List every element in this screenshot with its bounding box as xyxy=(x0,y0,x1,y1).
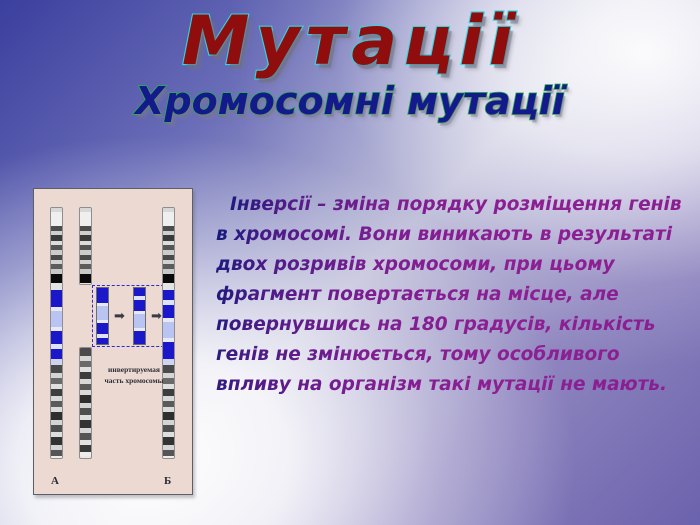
band-lightblue xyxy=(163,322,174,338)
excised-fragment xyxy=(96,287,109,345)
band xyxy=(163,425,174,432)
centromere xyxy=(51,274,62,283)
band xyxy=(80,420,91,428)
band xyxy=(163,389,174,396)
band xyxy=(80,433,91,440)
band xyxy=(51,389,62,396)
band-lightblue xyxy=(134,314,145,328)
band-blue xyxy=(51,349,62,359)
band-blue xyxy=(134,331,145,345)
band xyxy=(80,395,91,403)
band-blue xyxy=(51,331,62,344)
band-blue xyxy=(134,288,145,296)
band-blue xyxy=(97,288,108,303)
result-chromosome-b xyxy=(162,207,175,459)
band xyxy=(51,456,62,459)
figure-label-a: А xyxy=(51,475,59,487)
band xyxy=(163,456,174,459)
figure-label-b: Б xyxy=(164,475,171,487)
band xyxy=(80,348,91,356)
page-title: Мутації xyxy=(0,6,700,77)
band-blue xyxy=(97,338,108,345)
band xyxy=(163,412,174,420)
fragment-caption-line2: часть хромосомы xyxy=(89,375,179,386)
band-blue xyxy=(51,290,62,307)
centromere xyxy=(80,274,91,283)
arrow-right-icon: ➡ xyxy=(114,309,125,322)
slide-canvas: Мутації Хромосомні мутації Інверсії – зм… xyxy=(0,0,700,525)
band-blue xyxy=(97,323,108,334)
chromosome-inversion-diagram: ➡ ➡ xyxy=(33,188,193,495)
band xyxy=(51,212,62,226)
band xyxy=(163,437,174,445)
band-lightblue xyxy=(97,306,108,320)
band xyxy=(80,212,91,226)
band xyxy=(163,212,174,226)
inverted-fragment xyxy=(133,287,146,345)
band-blue xyxy=(163,342,174,359)
band xyxy=(163,283,174,290)
band-lightblue xyxy=(51,311,62,327)
broken-chromosome-top xyxy=(79,207,92,285)
body-paragraph: Інверсії – зміна порядку розміщення гені… xyxy=(216,190,688,400)
band xyxy=(51,283,62,290)
band xyxy=(80,452,91,456)
band xyxy=(80,283,91,285)
band xyxy=(80,408,91,415)
band xyxy=(51,425,62,432)
title-block: Мутації Хромосомні мутації xyxy=(0,6,700,123)
centromere xyxy=(163,274,174,283)
band-blue xyxy=(163,290,174,300)
arrow-right-icon: ➡ xyxy=(151,309,162,322)
band-blue xyxy=(163,305,174,318)
original-chromosome-a xyxy=(50,207,63,459)
band xyxy=(51,365,62,373)
page-subtitle: Хромосомні мутації xyxy=(0,79,700,123)
fragment-caption-line1: инвертируемая xyxy=(89,364,179,375)
band xyxy=(80,445,91,452)
fragment-caption: инвертируемая часть хромосомы xyxy=(89,364,179,386)
band-blue xyxy=(134,300,145,311)
band xyxy=(51,437,62,445)
band xyxy=(51,412,62,420)
